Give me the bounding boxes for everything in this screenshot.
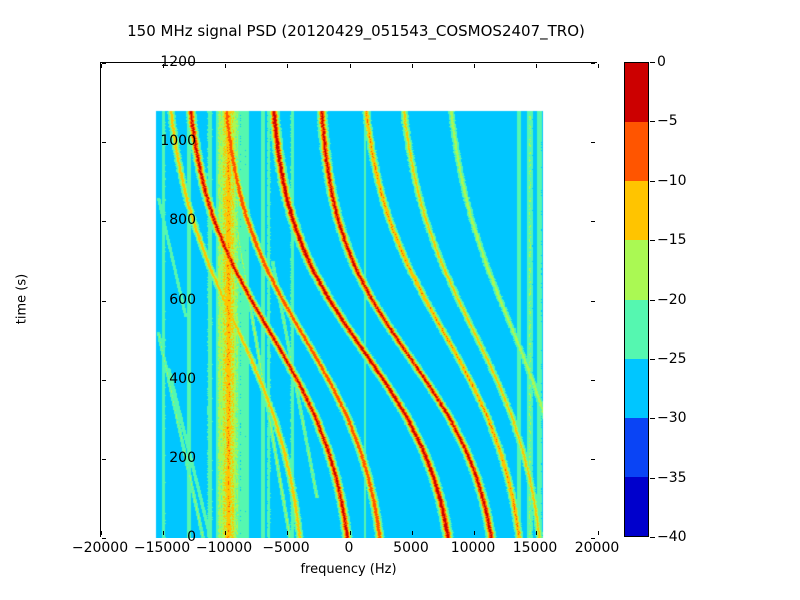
colorbar-tick-mark [650, 537, 655, 538]
y-tick-mark [591, 63, 595, 64]
colorbar-band [625, 63, 648, 122]
x-tick-label: −5000 [262, 540, 309, 556]
x-tick-label: −20000 [72, 540, 128, 556]
x-tick-label: 5000 [393, 540, 429, 556]
colorbar-band [625, 181, 648, 240]
colorbar-tick-label: −40 [657, 529, 687, 545]
y-tick-label: 1200 [160, 54, 196, 70]
colorbar-tick-label: −15 [657, 232, 687, 248]
colorbar-tick-label: −10 [657, 173, 687, 189]
y-tick-mark [591, 142, 595, 143]
page-title: 150 MHz signal PSD (20120429_051543_COSM… [0, 22, 712, 40]
x-tick-mark [225, 531, 226, 535]
colorbar-tick-mark [650, 359, 655, 360]
colorbar-band [625, 359, 648, 418]
x-tick-mark [536, 64, 537, 68]
y-tick-label: 400 [169, 371, 196, 387]
y-tick-mark [102, 221, 106, 222]
x-axis-title: frequency (Hz) [100, 562, 597, 577]
x-tick-mark [412, 531, 413, 535]
y-tick-label: 200 [169, 450, 196, 466]
colorbar-tick-label: −25 [657, 351, 687, 367]
y-tick-mark [591, 380, 595, 381]
x-tick-mark [163, 531, 164, 535]
y-tick-mark [102, 142, 106, 143]
colorbar-band [625, 122, 648, 181]
x-tick-mark [474, 531, 475, 535]
colorbar-tick-label: 0 [657, 54, 666, 70]
y-tick-mark [102, 380, 106, 381]
y-tick-mark [591, 538, 595, 539]
x-tick-mark [350, 64, 351, 68]
y-tick-label: 800 [169, 212, 196, 228]
colorbar-tick-mark [650, 418, 655, 419]
x-tick-mark [101, 64, 102, 68]
colorbar-tick-label: −5 [657, 113, 678, 129]
colorbar-tick-mark [650, 478, 655, 479]
colorbar-tick-label: −30 [657, 410, 687, 426]
x-tick-mark [287, 531, 288, 535]
y-axis-title: time (s) [15, 274, 30, 324]
colorbar [624, 62, 649, 537]
colorbar-tick-mark [650, 121, 655, 122]
colorbar-tick-label: −20 [657, 292, 687, 308]
x-tick-label: −15000 [134, 540, 190, 556]
colorbar-tick-mark [650, 62, 655, 63]
colorbar-tick-label: −35 [657, 470, 687, 486]
x-tick-mark [598, 64, 599, 68]
x-tick-label: −10000 [196, 540, 252, 556]
y-tick-label: 1000 [160, 133, 196, 149]
colorbar-band [625, 418, 648, 477]
x-tick-label: 10000 [451, 540, 496, 556]
x-tick-mark [474, 64, 475, 68]
colorbar-band [625, 300, 648, 359]
x-tick-label: 20000 [575, 540, 620, 556]
x-tick-mark [536, 531, 537, 535]
y-tick-mark [591, 301, 595, 302]
figure-canvas: 150 MHz signal PSD (20120429_051543_COSM… [0, 0, 800, 600]
y-tick-mark [102, 63, 106, 64]
y-tick-mark [591, 459, 595, 460]
y-tick-label: 600 [169, 292, 196, 308]
x-tick-mark [350, 531, 351, 535]
y-tick-mark [102, 301, 106, 302]
x-tick-mark [101, 531, 102, 535]
x-tick-label: 0 [345, 540, 354, 556]
x-tick-label: 15000 [513, 540, 558, 556]
colorbar-tick-mark [650, 181, 655, 182]
y-tick-mark [102, 538, 106, 539]
colorbar-band [625, 477, 648, 536]
colorbar-tick-mark [650, 240, 655, 241]
y-tick-mark [102, 459, 106, 460]
x-tick-mark [225, 64, 226, 68]
x-tick-mark [598, 531, 599, 535]
y-tick-mark [591, 221, 595, 222]
colorbar-band [625, 240, 648, 299]
x-tick-mark [412, 64, 413, 68]
colorbar-tick-mark [650, 300, 655, 301]
x-tick-mark [287, 64, 288, 68]
